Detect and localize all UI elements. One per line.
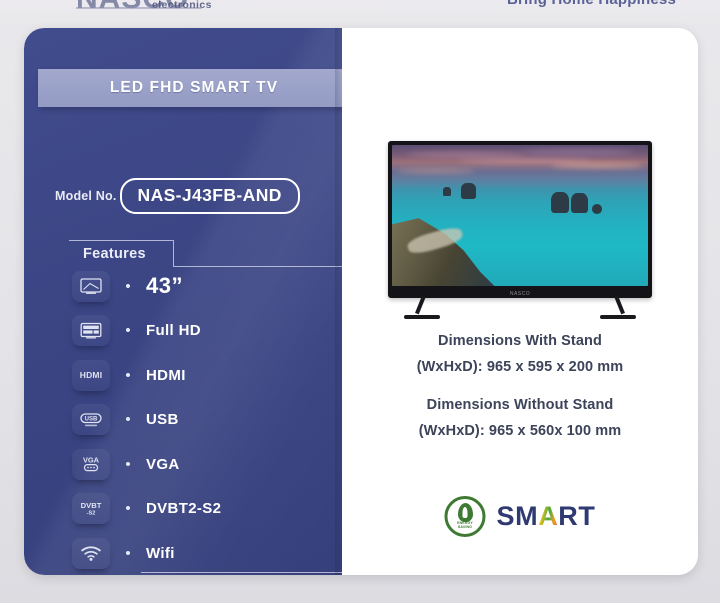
- feature-label: VGA: [146, 456, 180, 473]
- svg-text:USB: USB: [85, 416, 98, 422]
- tv-brand-label: NASCO: [510, 291, 530, 297]
- tv-stand-right: [614, 295, 625, 314]
- bullet-icon: •: [110, 323, 146, 338]
- vga-icon: VGA: [72, 449, 110, 480]
- tv-bezel: NASCO: [388, 141, 652, 298]
- bullet-icon: •: [110, 457, 146, 472]
- feature-label: 43”: [146, 273, 183, 299]
- feature-label: USB: [146, 411, 179, 428]
- left-blue-panel: LED FHD SMART TV Model No. NAS-J43FB-AND…: [24, 28, 342, 575]
- top-fade-overlay: [0, 6, 720, 22]
- tv-foot-right: [600, 315, 636, 319]
- feature-label: DVBT2-S2: [146, 500, 221, 517]
- energy-saving-icon: ENERGY SAVING: [444, 496, 485, 537]
- list-item: HDMI • HDMI: [72, 353, 342, 398]
- frame-border-top-left: [69, 240, 173, 241]
- bullet-icon: •: [110, 501, 146, 516]
- feature-label: Full HD: [146, 322, 201, 339]
- list-item: VGA • VGA: [72, 442, 342, 487]
- bullet-icon: •: [110, 546, 146, 561]
- tv-product-image: NASCO: [388, 141, 652, 298]
- features-heading: Features: [81, 246, 152, 262]
- svg-text:DVBT: DVBT: [81, 501, 102, 510]
- smart-logo-block: ENERGY SAVING SM A RT: [444, 496, 595, 537]
- dimensions-with-stand-title: Dimensions With Stand: [342, 328, 698, 354]
- wifi-icon: [72, 538, 110, 569]
- bullet-icon: •: [110, 412, 146, 427]
- bullet-icon: •: [110, 279, 146, 294]
- bullet-icon: •: [110, 368, 146, 383]
- energy-logo-line2: SAVING: [458, 525, 472, 529]
- tv-screen-icon: [72, 271, 110, 302]
- energy-logo-text: ENERGY SAVING: [447, 521, 482, 530]
- tv-foot-left: [404, 315, 440, 319]
- dvbt-icon: DVBT -S2: [72, 493, 110, 524]
- frame-border-step: [173, 240, 174, 266]
- model-number-pill: NAS-J43FB-AND: [120, 178, 300, 214]
- smart-wordmark-part3: RT: [558, 501, 595, 532]
- smart-wordmark-letter-a: A: [538, 501, 558, 532]
- dimensions-block: Dimensions With Stand (WxHxD): 965 x 595…: [342, 328, 698, 444]
- full-hd-icon: [72, 315, 110, 346]
- feature-label: Wifi: [146, 545, 175, 562]
- svg-text:-S2: -S2: [87, 510, 96, 516]
- model-label: Model No.: [55, 189, 120, 203]
- hdmi-icon: HDMI: [72, 360, 110, 391]
- usb-icon: USB: [72, 404, 110, 435]
- feature-label: HDMI: [146, 367, 186, 384]
- list-item: USB • USB: [72, 398, 342, 443]
- right-white-panel: NASCO Dimensions With Stand (WxHxD): 965…: [342, 28, 698, 575]
- energy-logo-line1: ENERGY: [457, 521, 473, 525]
- top-brand-strip: NASCO electronics Bring Home Happiness: [0, 0, 720, 22]
- dimensions-without-stand-title: Dimensions Without Stand: [342, 392, 698, 418]
- tv-stand-left: [415, 295, 426, 314]
- tv-screen-content: [392, 145, 648, 286]
- dimensions-spacer: [342, 380, 698, 392]
- model-row: Model No. NAS-J43FB-AND: [55, 178, 300, 214]
- features-list: • 43” • Full HD: [72, 264, 342, 575]
- list-item: • Wifi: [72, 531, 342, 575]
- list-item: • 43”: [72, 264, 342, 309]
- smart-wordmark-part1: SM: [496, 501, 538, 532]
- energy-leaf-shape: [457, 503, 472, 522]
- product-title-banner: LED FHD SMART TV: [38, 69, 350, 107]
- list-item: • Full HD: [72, 309, 342, 354]
- svg-text:VGA: VGA: [83, 455, 100, 464]
- list-item: DVBT -S2 • DVBT2-S2: [72, 487, 342, 532]
- hdmi-icon-text: HDMI: [80, 371, 103, 380]
- dimensions-without-stand-value: (WxHxD): 965 x 560x 100 mm: [342, 418, 698, 444]
- product-title: LED FHD SMART TV: [110, 79, 278, 97]
- smart-wordmark: SM A RT: [496, 501, 595, 532]
- dimensions-with-stand-value: (WxHxD): 965 x 595 x 200 mm: [342, 354, 698, 380]
- product-spec-card: LED FHD SMART TV Model No. NAS-J43FB-AND…: [24, 28, 698, 575]
